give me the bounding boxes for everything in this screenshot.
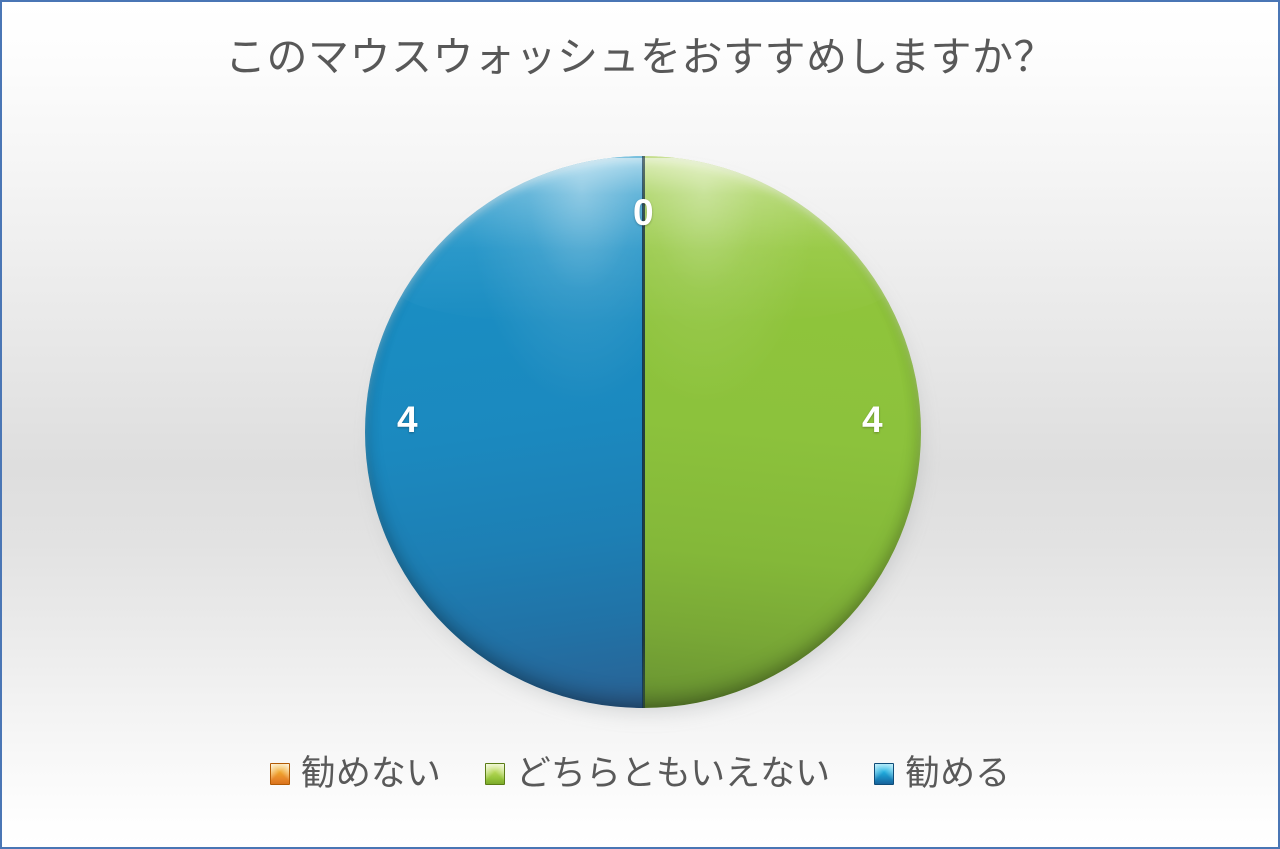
legend-swatch-blue-icon xyxy=(874,763,894,785)
legend-item-recommend[interactable]: 勧める xyxy=(874,756,1010,791)
pie-data-label-neutral: 4 xyxy=(862,399,883,441)
pie-disc xyxy=(365,156,921,708)
pie-data-label-zero: 0 xyxy=(633,192,654,234)
legend-label-recommend: 勧める xyxy=(905,756,1010,791)
chart-canvas: このマウスウォッシュをおすすめしますか？ 0 4 4 勧めない どちらともいえな… xyxy=(0,0,1280,849)
legend-item-not-recommend[interactable]: 勧めない xyxy=(270,756,441,791)
legend-swatch-orange-icon xyxy=(270,763,290,785)
chart-legend: 勧めない どちらともいえない 勧める xyxy=(2,756,1278,791)
legend-swatch-green-icon xyxy=(485,763,505,785)
pie-chart[interactable]: 0 4 4 xyxy=(365,156,921,708)
chart-title: このマウスウォッシュをおすすめしますか？ xyxy=(2,32,1278,82)
legend-label-not-recommend: 勧めない xyxy=(301,756,441,791)
legend-label-neutral: どちらともいえない xyxy=(516,756,830,791)
pie-data-label-recommend: 4 xyxy=(397,399,418,441)
legend-item-neutral[interactable]: どちらともいえない xyxy=(485,756,830,791)
